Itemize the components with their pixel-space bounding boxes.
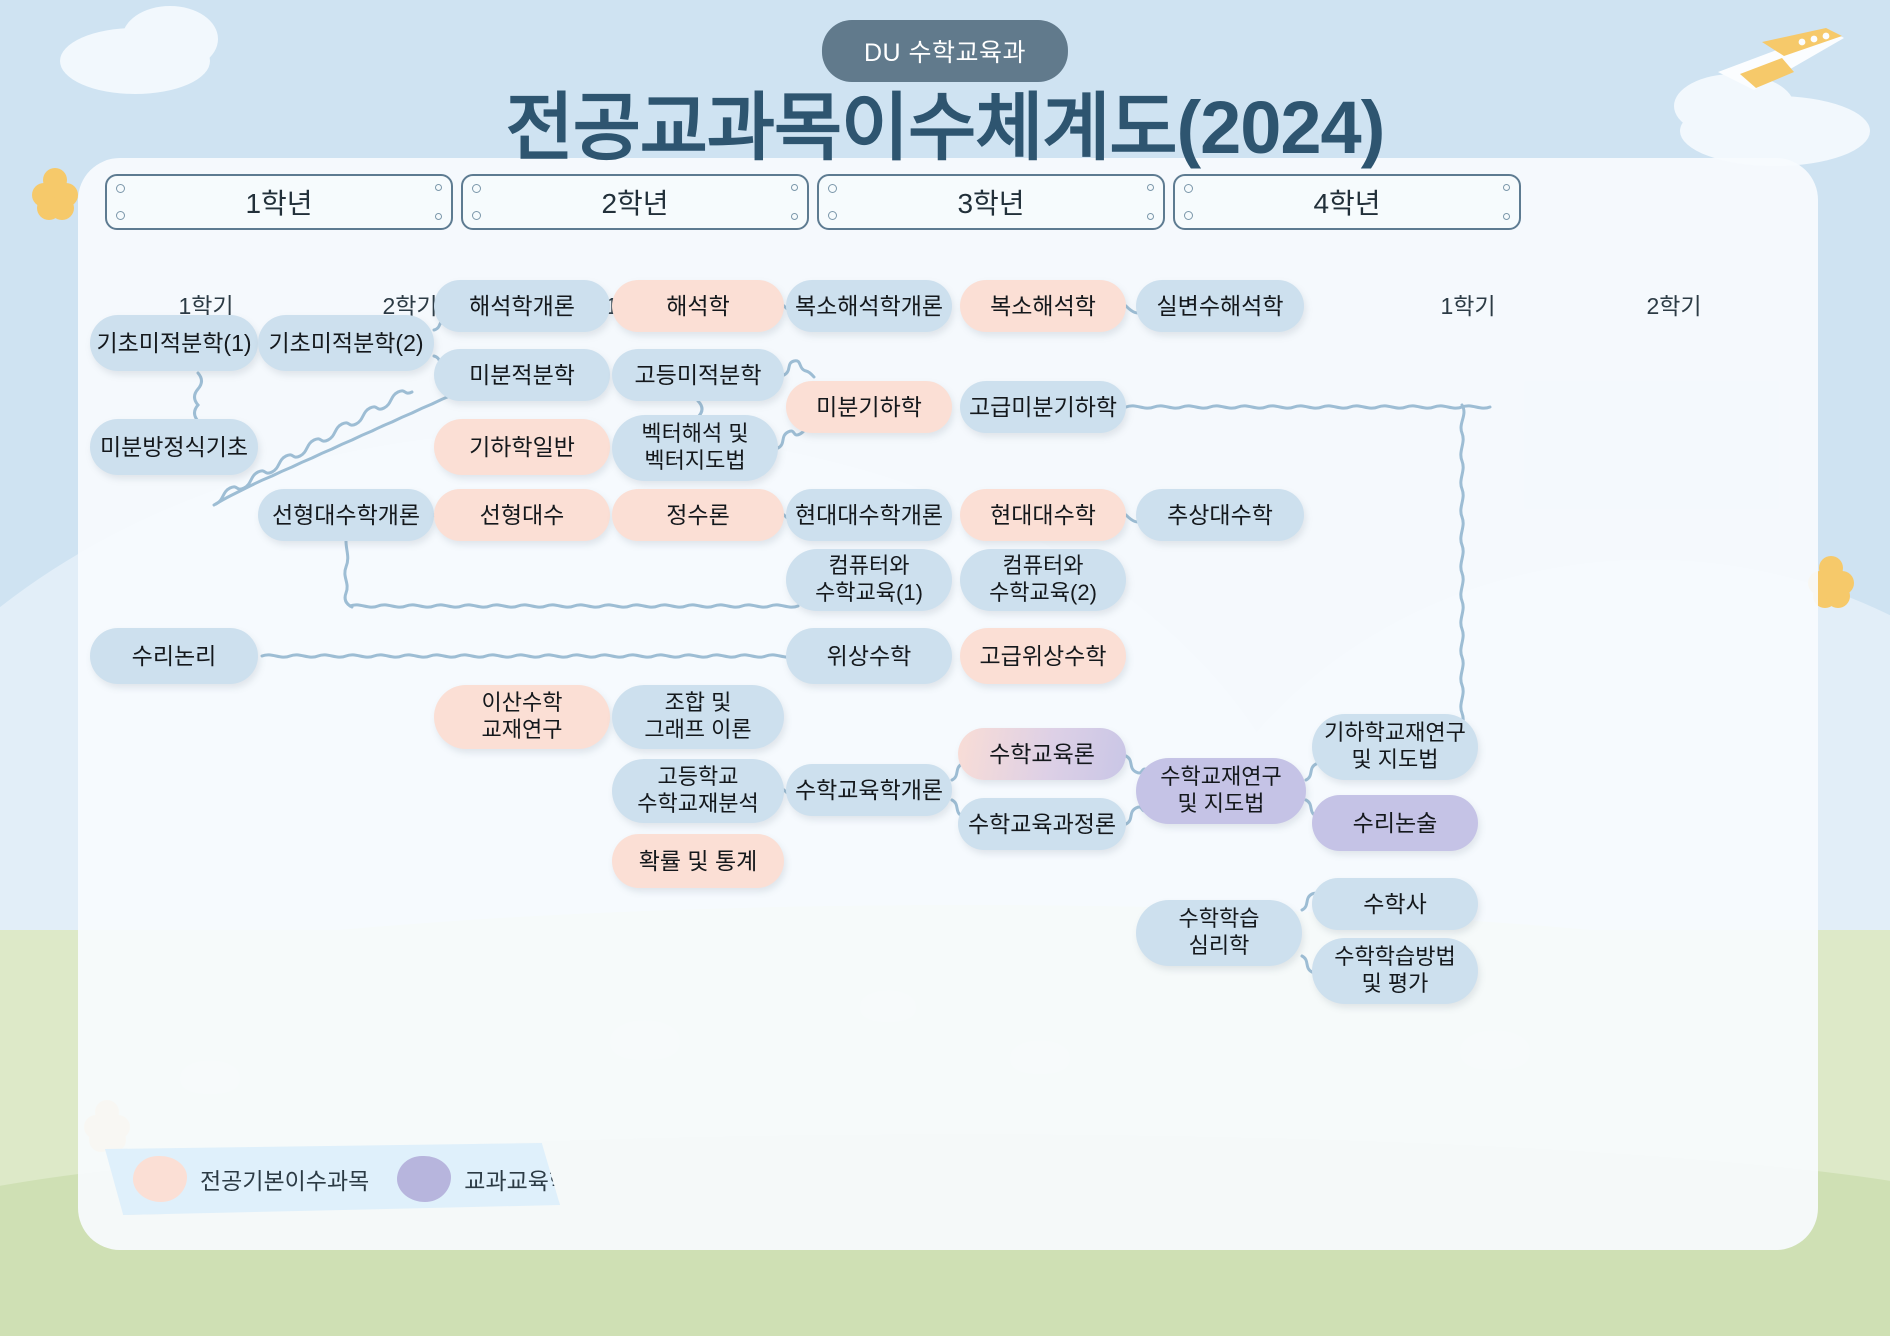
course-node-c02[interactable]: 기초미적분학(2)	[258, 315, 434, 371]
course-node-c18[interactable]: 현대대수학개론	[786, 489, 952, 541]
year-header-label: 3학년	[957, 182, 1024, 222]
cloud-icon	[122, 6, 218, 72]
course-node-c28[interactable]: 수학교육론	[958, 728, 1126, 780]
course-node-c26[interactable]: 이산수학 교재연구	[434, 685, 610, 749]
course-node-c04[interactable]: 해석학개론	[434, 280, 610, 332]
course-node-label: 고등미적분학	[635, 361, 762, 389]
course-node-c32[interactable]: 수학교재연구 및 지도법	[1136, 758, 1306, 824]
course-node-label: 수학학습방법 및 평가	[1334, 944, 1455, 998]
year-header-label: 4학년	[1313, 182, 1380, 222]
course-node-c15[interactable]: 선형대수학개론	[258, 489, 434, 541]
course-node-label: 수학교육론	[989, 740, 1095, 768]
course-node-label: 수학교재연구 및 지도법	[1160, 764, 1281, 818]
course-node-label: 조합 및 그래프 이론	[644, 690, 751, 744]
course-node-label: 고급위상수학	[980, 642, 1107, 670]
course-node-label: 고등학교 수학교재분석	[637, 764, 758, 818]
course-node-c12[interactable]: 고급미분기하학	[960, 381, 1126, 433]
course-node-label: 미분기하학	[816, 393, 922, 421]
course-node-label: 위상수학	[827, 642, 912, 670]
course-node-c17[interactable]: 정수론	[612, 489, 784, 541]
course-node-label: 확률 및 통계	[639, 847, 758, 875]
course-node-c11[interactable]: 미분기하학	[786, 381, 952, 433]
course-node-c24[interactable]: 위상수학	[786, 628, 952, 684]
course-node-label: 고급미분기하학	[969, 393, 1117, 421]
page-title: 전공교과목이수체계도(2024)	[506, 68, 1385, 175]
course-node-c29[interactable]: 기하학교재연구 및 지도법	[1312, 714, 1478, 780]
course-node-c21[interactable]: 컴퓨터와 수학교육(1)	[786, 549, 952, 611]
course-node-label: 현대대수학	[990, 501, 1096, 529]
flower-icon	[32, 168, 78, 214]
course-node-label: 해석학개론	[469, 292, 575, 320]
course-node-label: 이산수학 교재연구	[482, 690, 563, 744]
course-node-c05[interactable]: 해석학	[612, 280, 784, 332]
semester-label-4-2: 2학기	[1646, 287, 1701, 321]
course-node-label: 벡터해석 및 벡터지도법	[641, 421, 748, 475]
course-node-c19[interactable]: 현대대수학	[960, 489, 1126, 541]
course-node-label: 추상대수학	[1167, 501, 1273, 529]
course-node-label: 실변수해석학	[1157, 292, 1284, 320]
legend-item-subject-education: 교과교육학	[397, 1156, 570, 1202]
course-node-label: 미분적분학	[469, 361, 575, 389]
course-node-label: 수학학습 심리학	[1179, 906, 1260, 960]
legend-swatch-pink-icon	[133, 1156, 187, 1202]
course-node-c10[interactable]: 고등미적분학	[612, 349, 784, 401]
course-node-c01[interactable]: 기초미적분학(1)	[90, 315, 258, 371]
course-node-c34[interactable]: 수리논술	[1312, 795, 1478, 851]
year-header-2: 2학년	[461, 174, 809, 230]
course-node-label: 수학사	[1363, 890, 1426, 918]
course-node-c20[interactable]: 추상대수학	[1136, 489, 1304, 541]
legend-label: 전공기본이수과목	[200, 1162, 369, 1196]
course-node-label: 수리논리	[132, 642, 217, 670]
course-node-c25[interactable]: 고급위상수학	[960, 628, 1126, 684]
year-header-4: 4학년	[1173, 174, 1521, 230]
legend-swatch-purple-icon	[397, 1156, 451, 1202]
course-node-label: 기하학교재연구 및 지도법	[1324, 720, 1466, 774]
course-node-label: 정수론	[666, 501, 729, 529]
course-node-label: 기초미적분학(1)	[96, 329, 251, 357]
course-node-c38[interactable]: 수학학습방법 및 평가	[1312, 938, 1478, 1004]
course-node-c09[interactable]: 미분적분학	[434, 349, 610, 401]
legend-item-major-basic: 전공기본이수과목	[133, 1156, 369, 1202]
airplane-icon	[1710, 12, 1850, 98]
course-node-label: 수리논술	[1353, 809, 1438, 837]
course-node-label: 수학교육학개론	[795, 776, 943, 804]
course-node-c31[interactable]: 수학교육학개론	[786, 764, 952, 816]
course-node-label: 기초미적분학(2)	[268, 329, 423, 357]
course-node-c27[interactable]: 조합 및 그래프 이론	[612, 685, 784, 749]
course-node-c16[interactable]: 선형대수	[434, 489, 610, 541]
semester-label-4-1: 1학기	[1440, 287, 1495, 321]
course-node-c33[interactable]: 수학교육과정론	[958, 798, 1126, 850]
course-node-c36[interactable]: 수학사	[1312, 878, 1478, 930]
course-node-label: 미분방정식기초	[100, 433, 248, 461]
course-node-c03[interactable]: 미분방정식기초	[90, 419, 258, 475]
course-node-c30[interactable]: 고등학교 수학교재분석	[612, 759, 784, 823]
year-header-3: 3학년	[817, 174, 1165, 230]
course-node-c23[interactable]: 수리논리	[90, 628, 258, 684]
year-header-1: 1학년	[105, 174, 453, 230]
course-node-label: 복소해석학	[990, 292, 1096, 320]
course-node-c22[interactable]: 컴퓨터와 수학교육(2)	[960, 549, 1126, 611]
course-node-label: 수학교육과정론	[968, 810, 1116, 838]
course-node-label: 선형대수	[480, 501, 565, 529]
course-node-c13[interactable]: 기하학일반	[434, 419, 610, 475]
course-node-label: 컴퓨터와 수학교육(1)	[815, 553, 923, 607]
year-header-label: 2학년	[601, 182, 668, 222]
course-node-label: 컴퓨터와 수학교육(2)	[989, 553, 1097, 607]
course-node-label: 기하학일반	[469, 433, 575, 461]
course-node-label: 선형대수학개론	[272, 501, 420, 529]
course-node-c37[interactable]: 수학학습 심리학	[1136, 900, 1302, 966]
course-node-label: 해석학	[666, 292, 729, 320]
course-node-c35[interactable]: 확률 및 통계	[612, 834, 784, 888]
course-node-c08[interactable]: 실변수해석학	[1136, 280, 1304, 332]
course-node-c14[interactable]: 벡터해석 및 벡터지도법	[612, 415, 778, 481]
course-node-c06[interactable]: 복소해석학개론	[786, 280, 952, 332]
course-node-c07[interactable]: 복소해석학	[960, 280, 1126, 332]
year-header-label: 1학년	[245, 182, 312, 222]
course-node-label: 복소해석학개론	[795, 292, 943, 320]
legend: 전공기본이수과목 교과교육학	[105, 1143, 560, 1215]
course-node-label: 현대대수학개론	[795, 501, 943, 529]
